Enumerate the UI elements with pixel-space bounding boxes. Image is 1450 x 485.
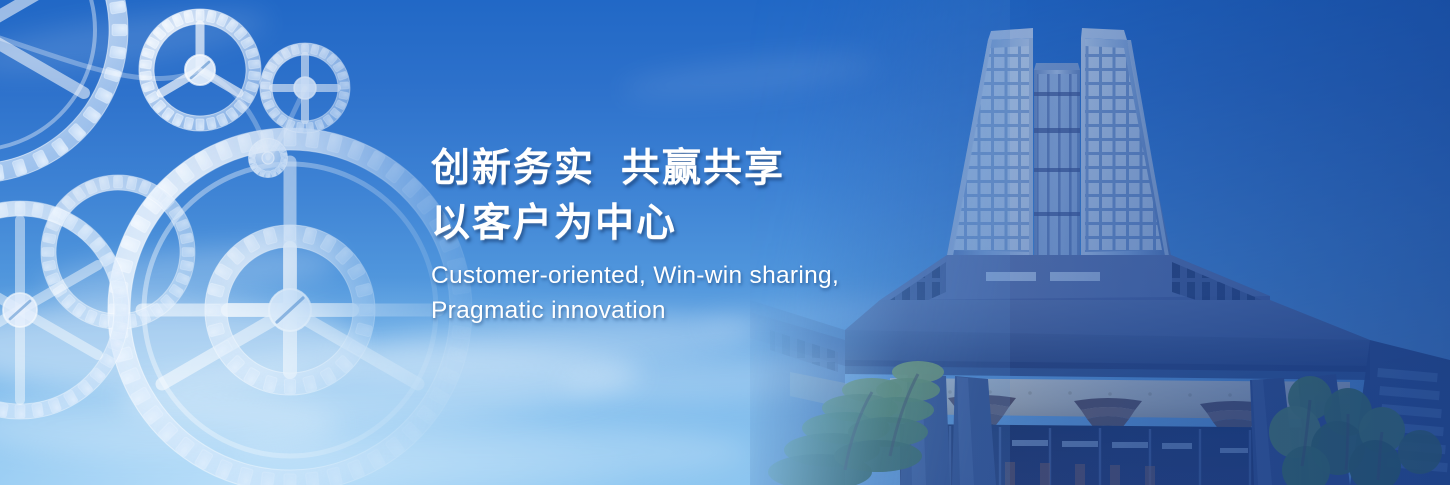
- headline-cn-line-1: 创新务实共赢共享: [431, 141, 839, 196]
- slogan-block: 创新务实共赢共享 以客户为中心 Customer-oriented, Win-w…: [431, 141, 839, 328]
- headline-cn-part-a: 创新务实: [431, 147, 595, 190]
- headline-cn-part-b: 共赢共享: [621, 147, 785, 190]
- headline-cn-line-2: 以客户为中心: [431, 196, 839, 251]
- hero-banner: 创新务实共赢共享 以客户为中心 Customer-oriented, Win-w…: [0, 0, 1450, 485]
- subtitle-en-block: Customer-oriented, Win-win sharing, Prag…: [431, 258, 839, 328]
- subtitle-en-line-2: Pragmatic innovation: [431, 293, 839, 328]
- subtitle-en-line-1: Customer-oriented, Win-win sharing,: [431, 258, 839, 293]
